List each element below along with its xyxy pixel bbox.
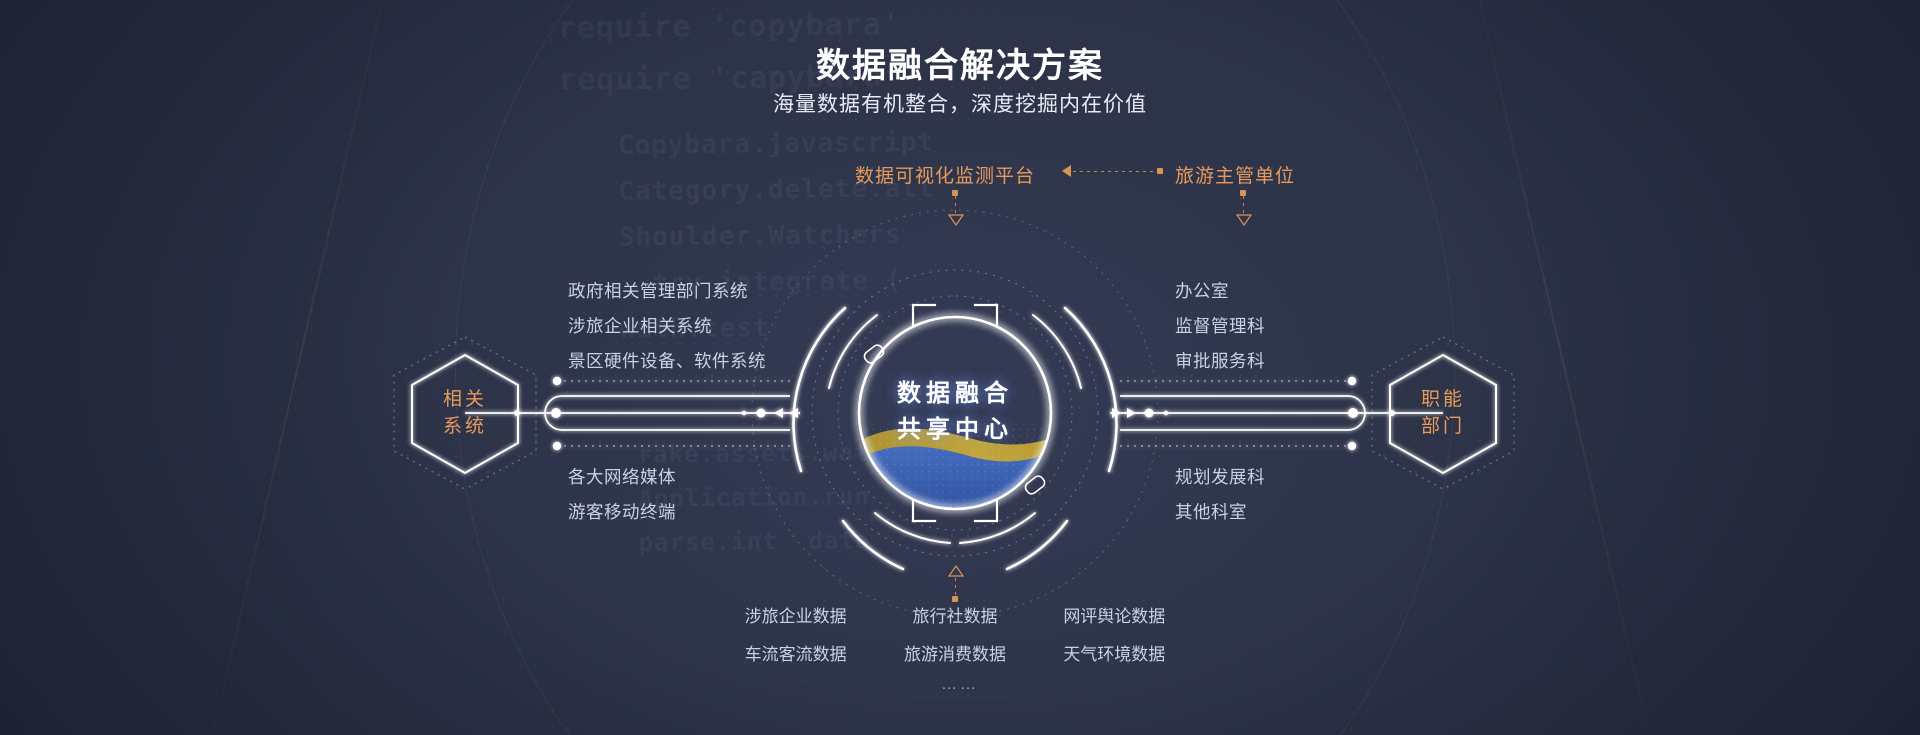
page-title: 数据融合解决方案: [0, 38, 1920, 87]
list-right-bottom: 规划发展科 其他科室: [1175, 460, 1265, 530]
page-subtitle: 海量数据有机整合，深度挖掘内在价值: [0, 88, 1920, 118]
hexagon-functional-departments[interactable]: 职能 部门: [1368, 333, 1518, 493]
center-label: 数据融合 共享中心: [845, 376, 1065, 448]
feeder-line-authority: [1243, 196, 1244, 214]
triangle-left-icon: [1062, 165, 1071, 177]
connector-authority-to-platform: [1073, 171, 1159, 172]
list-left-bottom: 各大网络媒体 游客移动终端: [568, 460, 676, 530]
hexagon-label-line1: 职能: [1421, 386, 1465, 413]
node-dot-icon: [1157, 168, 1163, 174]
list-item: 各大网络媒体: [568, 460, 676, 495]
hexagon-label-line2: 部门: [1421, 413, 1465, 440]
infographic-stage: require 'copybara' require 'capybara' Co…: [0, 0, 1920, 735]
list-right-top: 办公室 监督管理科 审批服务科: [1175, 274, 1265, 379]
bottom-ellipsis: ……: [0, 676, 1920, 694]
list-item: 办公室: [1175, 274, 1265, 309]
center-label-line1: 数据融合: [845, 376, 1065, 412]
hexagon-label-line1: 相关: [443, 386, 487, 413]
center-label-line2: 共享中心: [845, 412, 1065, 448]
list-item: 监督管理科: [1175, 309, 1265, 344]
hexagon-label-line2: 系统: [443, 413, 487, 440]
list-item: 审批服务科: [1175, 344, 1265, 379]
label-tourism-authority[interactable]: 旅游主管单位: [1175, 161, 1295, 188]
hexagon-related-systems[interactable]: 相关 系统: [390, 333, 540, 493]
list-item: 规划发展科: [1175, 460, 1265, 495]
hexagon-label-group: 职能 部门: [1368, 333, 1518, 493]
triangle-down-icon-authority: [1236, 214, 1252, 226]
list-item: 其他科室: [1175, 495, 1265, 530]
list-item: 游客移动终端: [568, 495, 676, 530]
hexagon-label-group: 相关 系统: [390, 333, 540, 493]
